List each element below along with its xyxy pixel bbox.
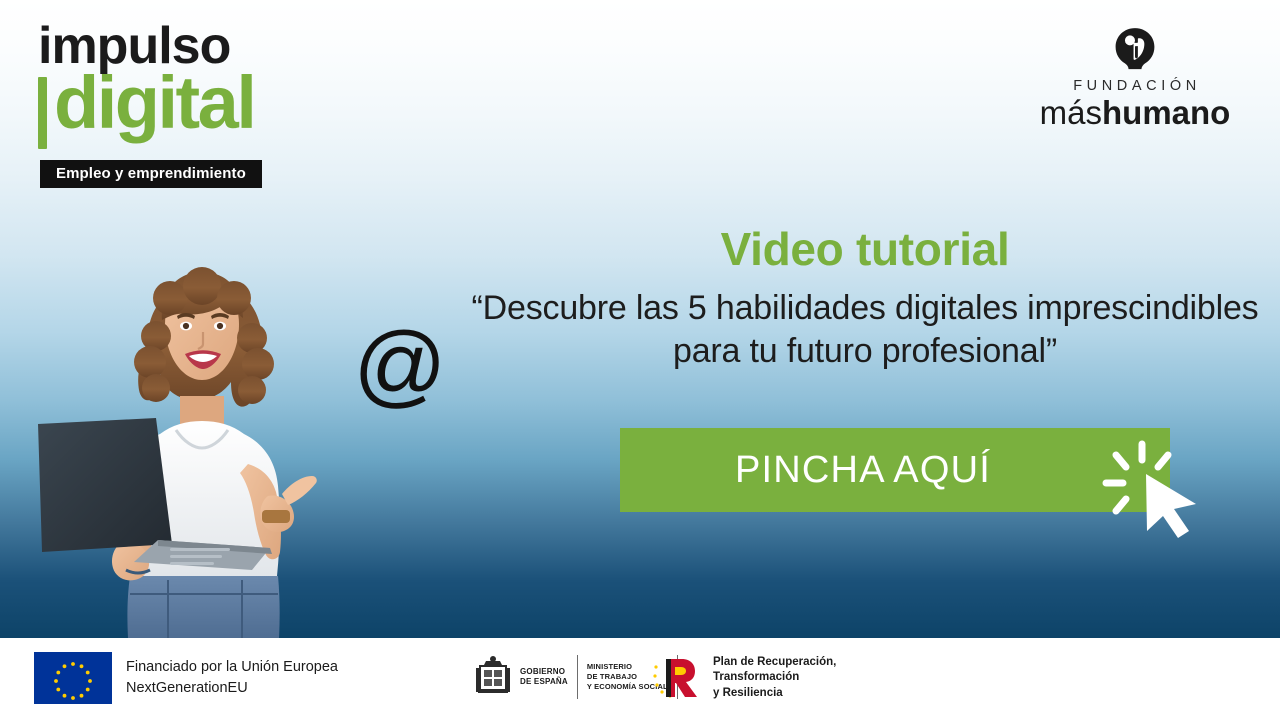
brand-tagline-badge: Empleo y emprendimiento bbox=[40, 160, 262, 188]
fundacion-name: máshumano bbox=[1030, 96, 1240, 131]
fundacion-mashumano-mark-icon bbox=[1112, 26, 1158, 72]
brand-accent-bar bbox=[38, 77, 47, 149]
brand-digital-row: digital bbox=[38, 73, 262, 149]
page-subtitle: “Descubre las 5 habilidades digitales im… bbox=[470, 287, 1260, 374]
at-symbol-icon: @ bbox=[352, 322, 448, 418]
pincha-aqui-button[interactable] bbox=[620, 428, 1170, 512]
fundacion-name-thin: más bbox=[1040, 94, 1102, 131]
header-fundacion-logo: FUNDACIÓN máshumano bbox=[1030, 26, 1240, 131]
page-title: Video tutorial bbox=[470, 224, 1260, 275]
svg-text:@: @ bbox=[353, 322, 446, 416]
plan-recuperacion-logo: Plan de Recuperación, Transformación y R… bbox=[650, 654, 836, 702]
promo-copy: Video tutorial “Descubre las 5 habilidad… bbox=[470, 224, 1260, 374]
gobierno-line-2: DE ESPAÑA bbox=[520, 677, 568, 687]
plan-line-2: Transformación bbox=[713, 670, 836, 685]
european-union-flag-icon bbox=[34, 652, 112, 704]
promo-banner: impulso digital Empleo y emprendimiento … bbox=[0, 0, 1280, 720]
footer-logos: Financiado por la Unión Europea NextGene… bbox=[0, 638, 1280, 720]
eu-funding-logo: Financiado por la Unión Europea NextGene… bbox=[34, 652, 338, 704]
spain-coat-of-arms-icon bbox=[472, 654, 514, 700]
plan-recuperacion-mark-icon bbox=[650, 654, 704, 702]
gobierno-line-1: GOBIERNO bbox=[520, 667, 568, 677]
plan-line-3: y Resiliencia bbox=[713, 686, 836, 701]
hero-photo-woman-with-laptop bbox=[10, 258, 430, 638]
divider-1 bbox=[577, 655, 578, 699]
plan-recuperacion-text: Plan de Recuperación, Transformación y R… bbox=[713, 655, 836, 701]
plan-line-1: Plan de Recuperación, bbox=[713, 655, 836, 670]
eu-line-2: NextGenerationEU bbox=[126, 678, 338, 699]
gobierno-text: GOBIERNO DE ESPAÑA bbox=[520, 667, 568, 687]
fundacion-name-bold: humano bbox=[1102, 94, 1230, 131]
brand-line-digital: digital bbox=[54, 73, 254, 134]
eu-funding-text: Financiado por la Unión Europea NextGene… bbox=[126, 657, 338, 699]
brand-lockup: impulso digital Empleo y emprendimiento bbox=[38, 22, 262, 188]
cta-container: PINCHA AQUÍ bbox=[620, 428, 1170, 512]
fundacion-word: FUNDACIÓN bbox=[1030, 78, 1240, 94]
eu-line-1: Financiado por la Unión Europea bbox=[126, 657, 338, 678]
